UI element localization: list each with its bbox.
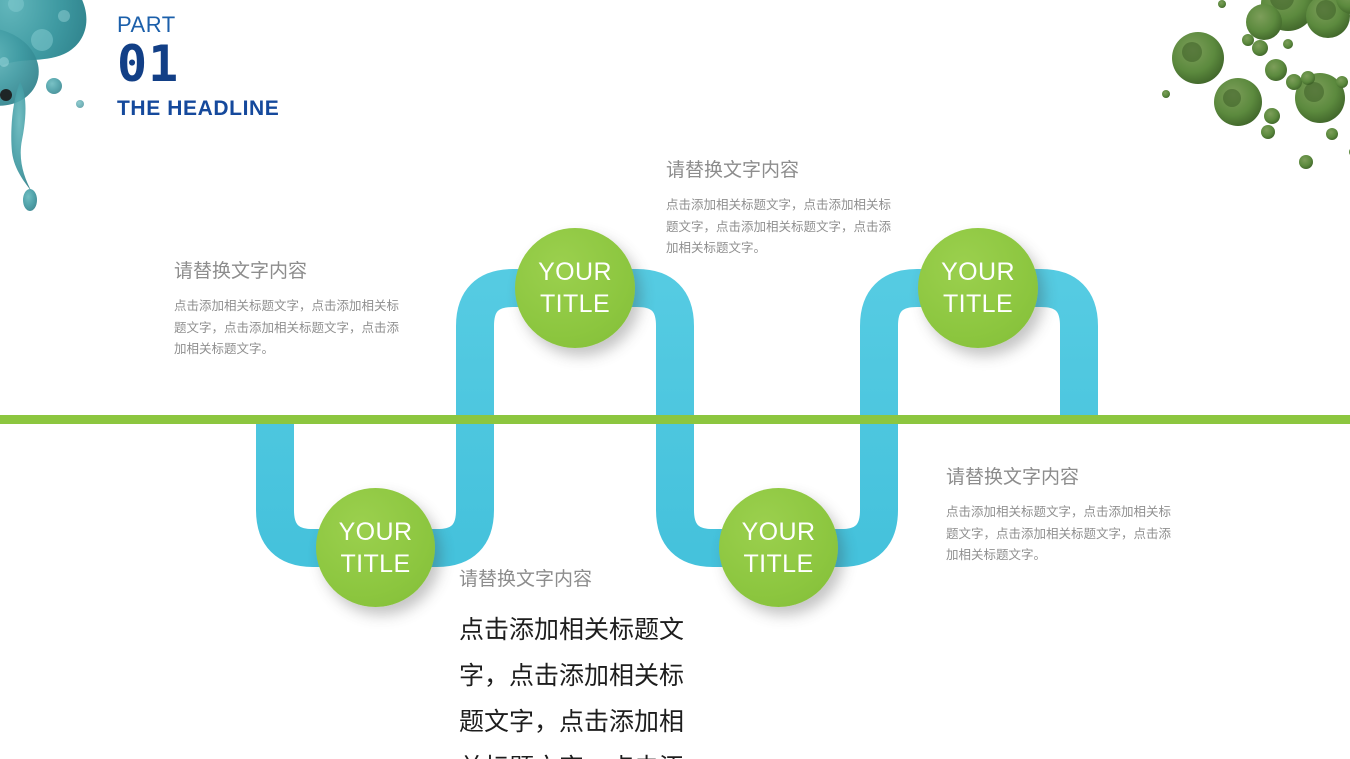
text-block-top-center: 请替换文字内容 点击添加相关标题文字，点击添加相关标题文字，点击添加相关标题文字… [666,159,894,260]
text-block-body: 点击添加相关标题文字，点击添加相关标题文字，点击添加相关标题文字，点击添加相关标… [666,195,894,261]
baseline-rule [0,415,1350,424]
node-top-left[interactable]: YOUR TITLE [515,228,635,348]
text-block-title: 请替换文字内容 [174,260,402,285]
text-block-bottom-center: 请替换文字内容 点击添加相关标题文字，点击添加相关标题文字，点击添加相关标题文字… [459,568,685,759]
text-block-body: 点击添加相关标题文字，点击添加相关标题文字，点击添加相关标题文字，点击添加相关标… [946,502,1174,568]
node-title-line2: TITLE [743,548,813,580]
node-title-line1: YOUR [941,256,1015,288]
text-block-right: 请替换文字内容 点击添加相关标题文字，点击添加相关标题文字，点击添加相关标题文字… [946,466,1174,567]
node-title-line2: TITLE [340,548,410,580]
text-block-title: 请替换文字内容 [459,568,685,593]
text-block-title: 请替换文字内容 [946,466,1174,491]
node-title-line1: YOUR [339,516,413,548]
node-top-right[interactable]: YOUR TITLE [918,228,1038,348]
node-title-line1: YOUR [742,516,816,548]
slide-canvas: PART 01 THE HEADLINE YOUR TITLE YOUR TIT… [0,0,1350,759]
text-block-left: 请替换文字内容 点击添加相关标题文字，点击添加相关标题文字，点击添加相关标题文字… [174,260,402,361]
text-block-body: 点击添加相关标题文字，点击添加相关标题文字，点击添加相关标题文字，点击添加相关标… [459,607,685,759]
node-title-line2: TITLE [540,288,610,320]
node-title-line1: YOUR [538,256,612,288]
text-block-title: 请替换文字内容 [666,159,894,184]
node-bottom-right[interactable]: YOUR TITLE [719,488,838,607]
text-block-body: 点击添加相关标题文字，点击添加相关标题文字，点击添加相关标题文字，点击添加相关标… [174,296,402,362]
node-bottom-left[interactable]: YOUR TITLE [316,488,435,607]
node-title-line2: TITLE [943,288,1013,320]
